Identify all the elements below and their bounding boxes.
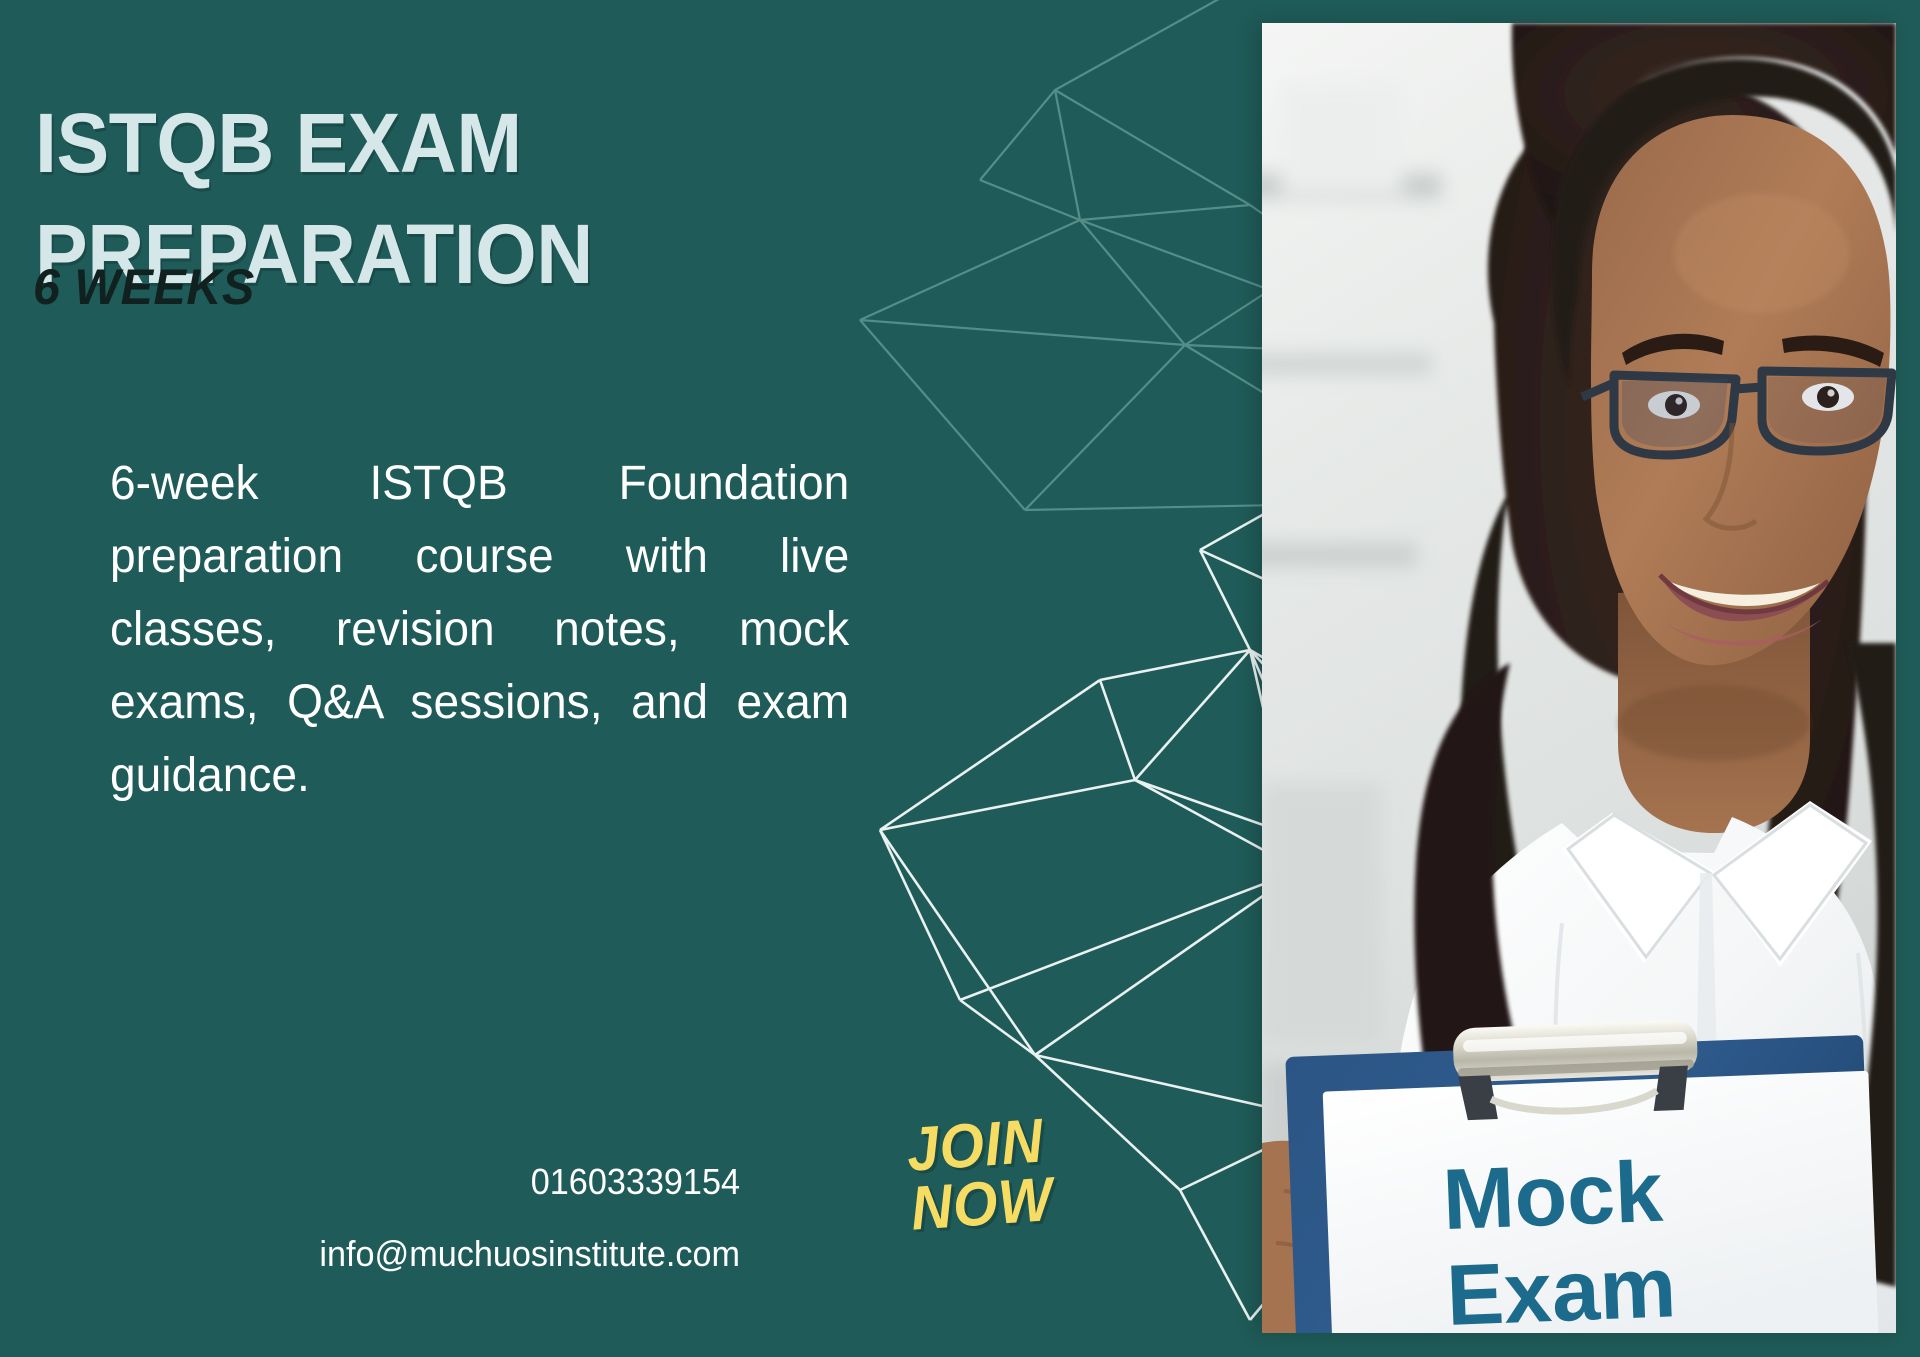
contact-block: 01603339154 info@muchuosinstitute.com <box>208 1155 740 1281</box>
email-address[interactable]: info@muchuosinstitute.com <box>208 1227 740 1281</box>
clipboard-text-line-1: Mock <box>1441 1144 1665 1248</box>
promotional-poster: ISTQB EXAM PREPARATION 6 WEEKS 6-week IS… <box>0 0 1920 1357</box>
course-description: 6-week ISTQB Foundation preparation cour… <box>110 448 849 813</box>
phone-number[interactable]: 01603339154 <box>208 1155 740 1209</box>
join-now-button[interactable]: JOIN NOW <box>905 1112 1055 1239</box>
content-column: ISTQB EXAM PREPARATION 6 WEEKS 6-week IS… <box>0 0 1040 1357</box>
duration-subtitle: 6 WEEKS <box>33 258 255 316</box>
headline-line-1: ISTQB EXAM <box>35 88 937 199</box>
clipboard-text-line-2: Exam <box>1445 1239 1678 1333</box>
woman-with-clipboard-photo: Mock Exam <box>1262 23 1896 1333</box>
photo-illustration: Mock Exam <box>1262 23 1896 1333</box>
cta-line-2: NOW <box>909 1171 1055 1240</box>
